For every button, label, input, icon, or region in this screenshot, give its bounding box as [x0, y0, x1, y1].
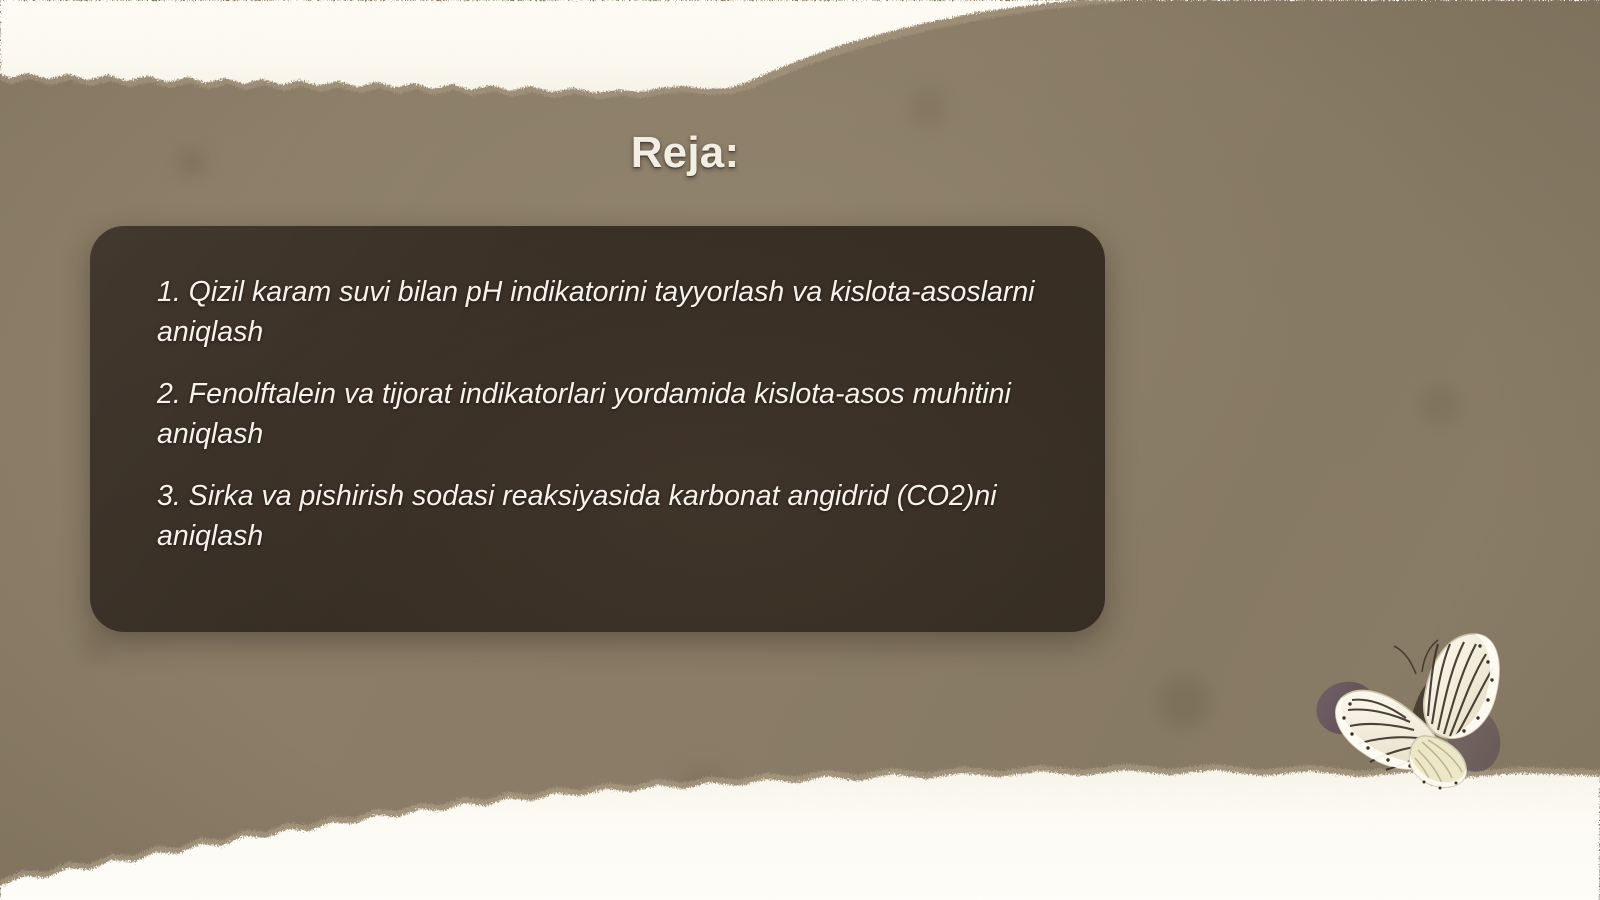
plan-item-1: 1. Qizil karam suvi bilan pH indikatorin… — [157, 272, 1047, 352]
plan-card: 1. Qizil karam suvi bilan pH indikatorin… — [90, 226, 1105, 632]
slide-canvas: Reja: 1. Qizil karam suvi bilan pH indik… — [0, 0, 1600, 900]
plan-item-3: 3. Sirka va pishirish sodasi reaksiyasid… — [157, 476, 1047, 556]
plan-item-2: 2. Fenolftalein va tijorat indikatorlari… — [157, 374, 1047, 454]
plan-list: 1. Qizil karam suvi bilan pH indikatorin… — [157, 272, 1047, 556]
page-title: Reja: — [0, 128, 1370, 178]
